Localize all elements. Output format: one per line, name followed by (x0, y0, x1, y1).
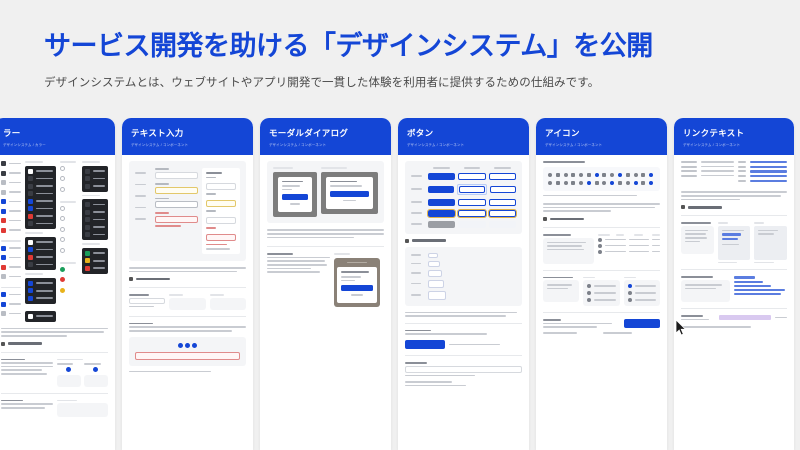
card-text-input-header: テキスト入力 デザインシステム / コンポーネント (122, 118, 253, 155)
button-outline-focus[interactable] (458, 210, 485, 217)
modal-preview-panel (267, 161, 384, 223)
card-icon-title: アイコン (545, 127, 658, 139)
dark-swatch-panel (25, 311, 56, 322)
link-sample[interactable] (750, 161, 787, 163)
color-dark-panels-2 (82, 161, 108, 274)
swatch-chip (1, 209, 6, 214)
card-button-body (398, 155, 529, 450)
swatch-chip (1, 274, 6, 279)
search-icon[interactable] (556, 173, 560, 177)
gear-icon[interactable] (571, 173, 575, 177)
link-sample[interactable] (750, 175, 787, 177)
text-field-error[interactable] (206, 234, 236, 241)
section-heading (543, 217, 660, 221)
text-field[interactable] (206, 217, 236, 224)
card-button-subtitle: デザインシステム / コンポーネント (407, 142, 520, 147)
link-sample[interactable] (750, 180, 787, 182)
card-link-text-title: リンクテキスト (683, 127, 785, 139)
link-icon[interactable] (618, 181, 622, 185)
swatch-chip (1, 161, 6, 166)
dialog-primary-button[interactable] (282, 194, 308, 200)
menu-icon[interactable] (634, 181, 638, 185)
swatch-chip (1, 255, 6, 260)
slide-header: サービス開発を助ける「デザインシステム」を公開 デザインシステムとは、ウェブサイ… (0, 0, 800, 90)
card-modal-dialog[interactable]: モーダルダイアログ デザインシステム / コンポーネント (260, 118, 391, 450)
star-icon[interactable] (579, 181, 583, 185)
card-link-text[interactable]: リンクテキスト デザインシステム / コンポーネント (674, 118, 794, 450)
card-button-header: ボタン デザインシステム / コンポーネント (398, 118, 529, 155)
card-color[interactable]: ラー デザインシステム / カラー (0, 118, 115, 450)
swatch-chip (1, 311, 6, 316)
chevron-down-icon[interactable] (548, 181, 552, 185)
color-description (1, 328, 108, 337)
dark-swatch-panel (82, 248, 108, 274)
text-field-warning[interactable] (155, 187, 198, 194)
input-form-sample (202, 168, 240, 254)
button-outline-hover[interactable] (459, 186, 485, 193)
close-icon[interactable] (626, 181, 630, 185)
device-frame-phone (334, 258, 380, 307)
icon-gallery-panel (543, 167, 660, 191)
card-text-input-subtitle: デザインシステム / コンポーネント (131, 142, 244, 147)
swatch-chip (1, 171, 6, 176)
edit-icon[interactable] (641, 173, 645, 177)
link-example-thumbnail (718, 226, 751, 260)
button-outline-focus[interactable] (489, 210, 516, 217)
share-icon[interactable] (595, 181, 599, 185)
dialog-primary-button[interactable] (341, 285, 373, 291)
page-subtitle: デザインシステムとは、ウェブサイトやアプリ開発で一貫した体験を利用者に提供するた… (44, 74, 800, 90)
text-field-error[interactable] (155, 216, 198, 223)
download-icon[interactable] (602, 181, 606, 185)
device-frame-mobile (273, 172, 317, 218)
button-outline-hover[interactable] (490, 186, 516, 193)
button-text-disabled (458, 221, 485, 228)
card-color-title: ラー (3, 127, 106, 139)
link-sample[interactable] (750, 170, 787, 172)
info-icon[interactable] (618, 173, 622, 177)
arrow-left-icon[interactable] (564, 181, 568, 185)
user-icon[interactable] (564, 173, 568, 177)
color-dark-panels (25, 161, 56, 322)
button-primary[interactable] (405, 340, 445, 349)
button-primary[interactable] (624, 319, 660, 328)
dialog-primary-button[interactable] (330, 191, 369, 197)
card-text-input-body (122, 155, 253, 450)
icon-row-1[interactable] (548, 173, 655, 177)
card-link-text-body (674, 155, 794, 450)
dark-swatch-panel (25, 237, 56, 271)
card-button[interactable]: ボタン デザインシステム / コンポーネント (398, 118, 529, 450)
color-token-list (1, 161, 21, 319)
swatch-chip (1, 199, 6, 204)
presentation-slide: サービス開発を助ける「デザインシステム」を公開 デザインシステムとは、ウェブサイ… (0, 0, 800, 450)
text-field-error[interactable] (135, 352, 240, 360)
section-heading (129, 277, 246, 281)
dark-swatch-panel (25, 278, 56, 304)
button-outline[interactable] (458, 173, 485, 180)
swatch-chip (1, 218, 6, 223)
dark-swatch-panel (82, 199, 108, 240)
page-title: サービス開発を助ける「デザインシステム」を公開 (44, 30, 800, 62)
file-icon[interactable] (610, 173, 614, 177)
dark-swatch-panel (25, 166, 56, 230)
button-outline-active[interactable] (458, 199, 485, 206)
button-size-panel (405, 247, 522, 306)
trash-icon[interactable] (634, 173, 638, 177)
filter-icon[interactable] (641, 181, 645, 185)
swatch-chip (1, 190, 6, 195)
card-text-input-title: テキスト入力 (131, 127, 244, 139)
card-button-title: ボタン (407, 127, 520, 139)
state-labels (135, 168, 151, 220)
section-heading (681, 205, 787, 209)
link-sample[interactable] (750, 166, 787, 168)
bell-icon[interactable] (579, 173, 583, 177)
button-primary-disabled (428, 221, 455, 228)
heart-icon[interactable] (587, 181, 591, 185)
card-icon-header: アイコン デザインシステム / コンポーネント (536, 118, 667, 155)
swatch-chip (1, 228, 6, 233)
section-heading (405, 239, 522, 243)
icon-row-2[interactable] (548, 181, 655, 185)
card-icon-body (536, 155, 667, 450)
check-icon[interactable] (595, 173, 599, 177)
color-table (1, 359, 53, 375)
arrow-right-icon[interactable] (571, 181, 575, 185)
swatch-chip (1, 265, 6, 270)
text-field-warning[interactable] (206, 200, 236, 207)
card-link-text-subtitle: デザインシステム / コンポーネント (683, 142, 785, 147)
section-heading (1, 342, 108, 346)
button-primary-focus[interactable] (428, 210, 455, 217)
modal-dialog (278, 177, 312, 213)
button-text-disabled (489, 221, 516, 228)
card-modal-dialog-title: モーダルダイアログ (269, 127, 382, 139)
card-modal-dialog-body (260, 155, 391, 450)
swatch-chip (1, 180, 6, 185)
button-outline-active[interactable] (489, 199, 516, 206)
text-input-preview-panel (129, 161, 246, 261)
swatch-chip (1, 302, 6, 307)
color-state-list (60, 161, 78, 295)
mouse-cursor (676, 320, 687, 336)
text-field[interactable] (155, 172, 198, 179)
card-color-body (0, 155, 115, 450)
calendar-icon[interactable] (602, 173, 606, 177)
card-text-input[interactable]: テキスト入力 デザインシステム / コンポーネント (122, 118, 253, 450)
upload-icon[interactable] (610, 181, 614, 185)
link-spec-table (681, 161, 787, 184)
text-field-filled[interactable] (155, 201, 198, 208)
card-modal-dialog-subtitle: デザインシステム / コンポーネント (269, 142, 382, 147)
button-input-sample[interactable] (405, 366, 522, 373)
link-highlight-sample (719, 315, 771, 320)
home-icon[interactable] (548, 173, 552, 177)
mail-icon[interactable] (587, 173, 591, 177)
card-icon-subtitle: デザインシステム / コンポーネント (545, 142, 658, 147)
card-icon[interactable]: アイコン デザインシステム / コンポーネント (536, 118, 667, 450)
card-color-subtitle: デザインシステム / カラー (3, 142, 106, 147)
design-system-card-strip[interactable]: ラー デザインシステム / カラー (0, 118, 800, 450)
swatch-chip (1, 292, 6, 297)
link-example-thumbnail (754, 226, 787, 260)
button-outline[interactable] (489, 173, 516, 180)
text-field[interactable] (129, 298, 165, 304)
card-link-text-header: リンクテキスト デザインシステム / コンポーネント (674, 118, 794, 155)
modal-dialog (326, 177, 373, 209)
button-primary-active[interactable] (428, 199, 455, 206)
input-focus-demo (129, 337, 246, 366)
color-sample-grid (57, 359, 109, 387)
button-primary-hover[interactable] (428, 186, 454, 193)
modal-dialog (337, 267, 377, 303)
dark-swatch-panel (82, 166, 108, 192)
card-modal-dialog-header: モーダルダイアログ デザインシステム / コンポーネント (260, 118, 391, 155)
lock-icon[interactable] (626, 173, 630, 177)
button-primary[interactable] (428, 173, 455, 180)
refresh-icon[interactable] (649, 181, 653, 185)
input-states-column (155, 168, 198, 227)
plus-icon[interactable] (649, 173, 653, 177)
card-color-header: ラー デザインシステム / カラー (0, 118, 115, 155)
text-field[interactable] (206, 183, 236, 190)
device-frame-desktop (321, 172, 378, 214)
button-matrix-panel (405, 161, 522, 234)
chevron-up-icon[interactable] (556, 181, 560, 185)
swatch-chip (1, 246, 6, 251)
